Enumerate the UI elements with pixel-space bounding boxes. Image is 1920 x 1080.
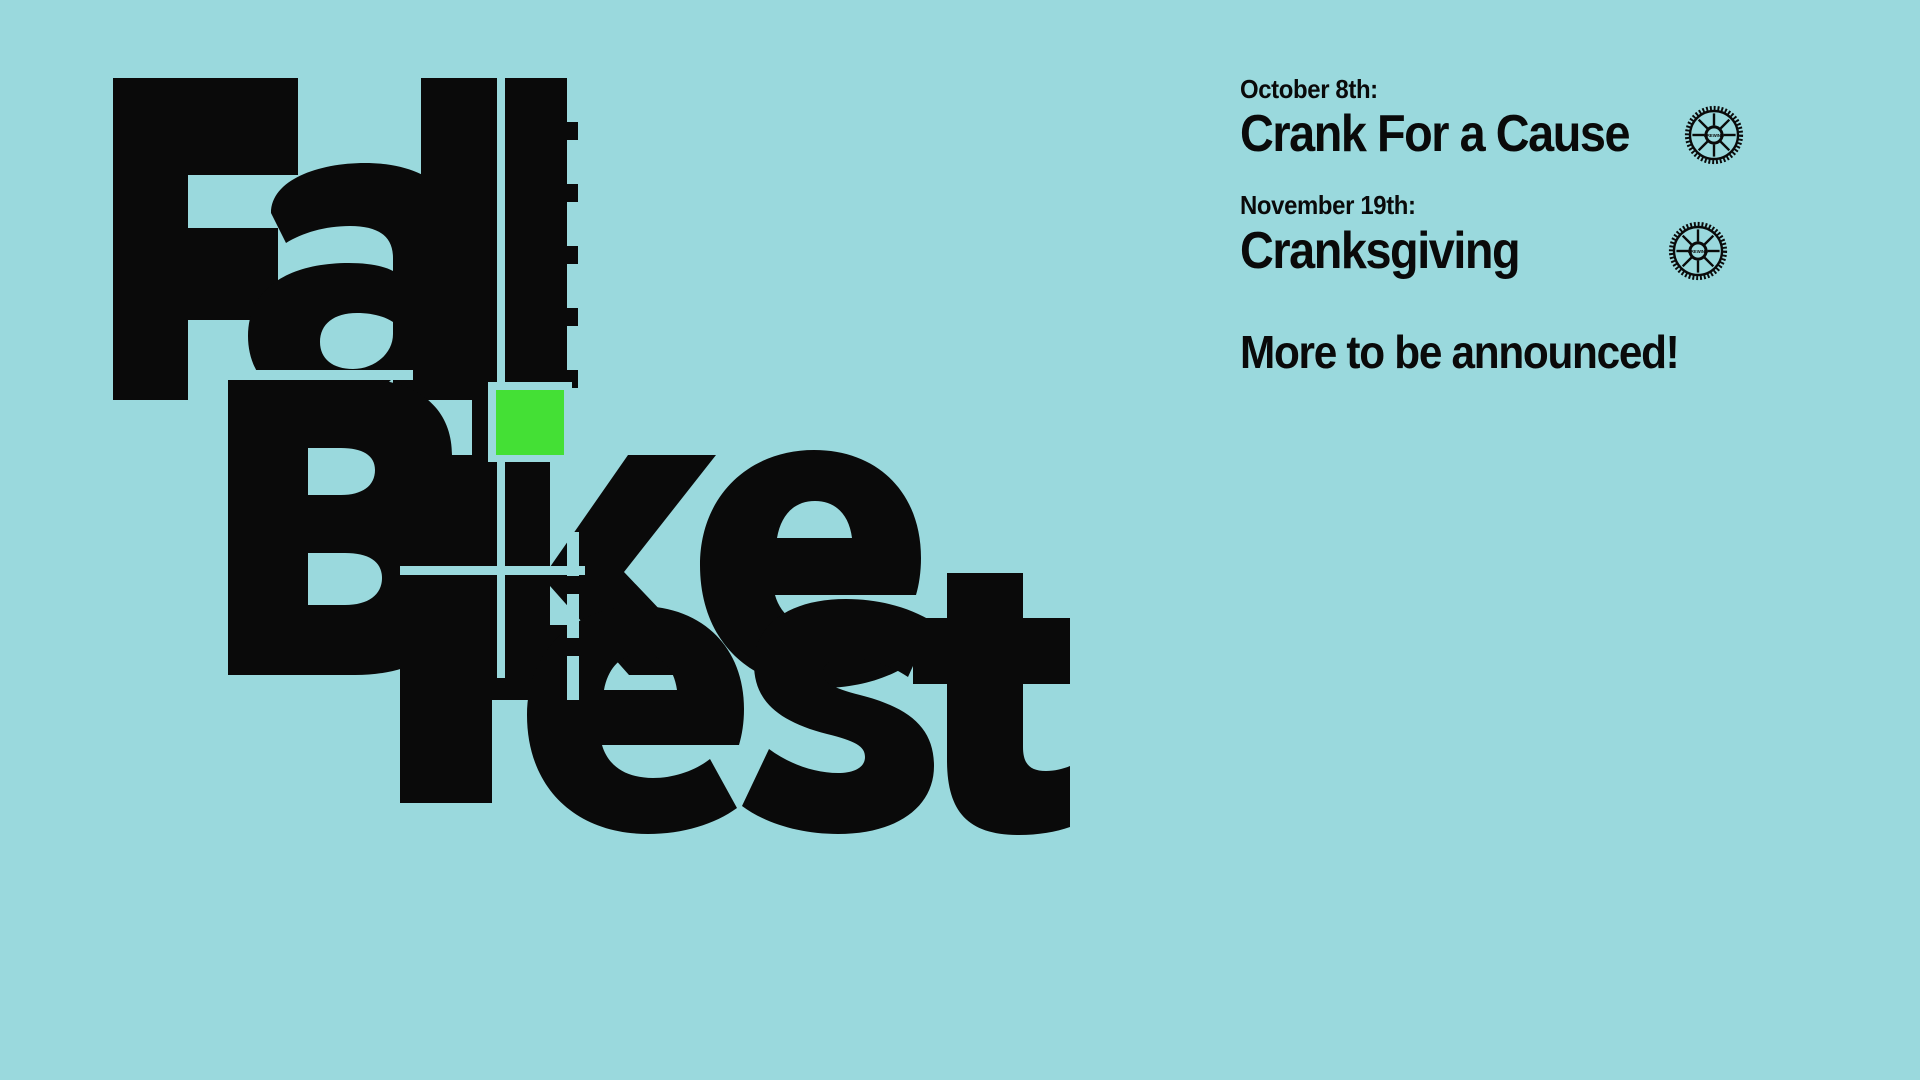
chainring-hub-label: BREWING [1688,249,1708,254]
event-name: Crank For a Cause [1240,107,1629,162]
green-accent-square [488,382,572,462]
chainring-gear-icon: BREWING [1668,221,1728,281]
wordmark-svg [0,0,1160,1080]
event-date: November 19th: [1240,192,1810,219]
event-item: October 8th: Crank For a Cause [1240,76,1860,166]
fall-bike-fest-wordmark [0,0,1160,1080]
chainring-hub-label: BREWING [1704,133,1724,138]
poster-canvas: October 8th: Crank For a Cause [0,0,1920,1080]
event-item: November 19th: Cranksgiving [1240,192,1860,282]
event-date: October 8th: [1240,76,1810,103]
event-title-row: Cranksgiving [1240,220,1860,282]
event-name: Cranksgiving [1240,224,1519,279]
wordmark-line-fall [113,78,578,406]
event-title-row: Crank For a Cause [1240,104,1860,166]
events-list: October 8th: Crank For a Cause [1240,76,1860,377]
chainring-gear-icon: BREWING [1684,105,1744,165]
more-to-be-announced-text: More to be announced! [1240,328,1810,377]
